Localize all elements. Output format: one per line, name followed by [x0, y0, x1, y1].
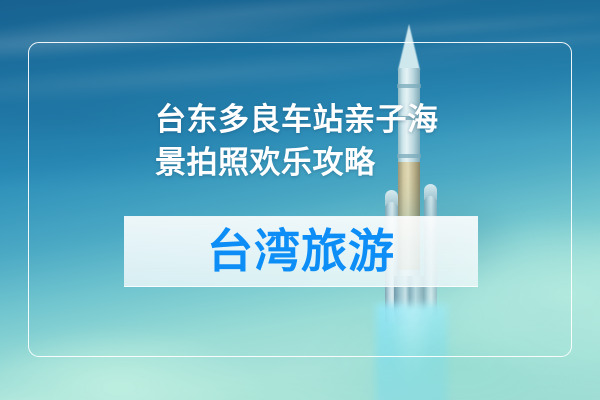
- rocket-band: [397, 84, 421, 88]
- banner-image: 台东多良车站亲子海 景拍照欢乐攻略 台湾旅游: [0, 0, 600, 400]
- banner-headline: 台东多良车站亲子海 景拍照欢乐攻略: [155, 98, 485, 184]
- subtitle-label: 台湾旅游: [207, 228, 395, 274]
- rocket-nose-cone-icon: [398, 24, 420, 70]
- subtitle-band: 台湾旅游: [124, 216, 478, 287]
